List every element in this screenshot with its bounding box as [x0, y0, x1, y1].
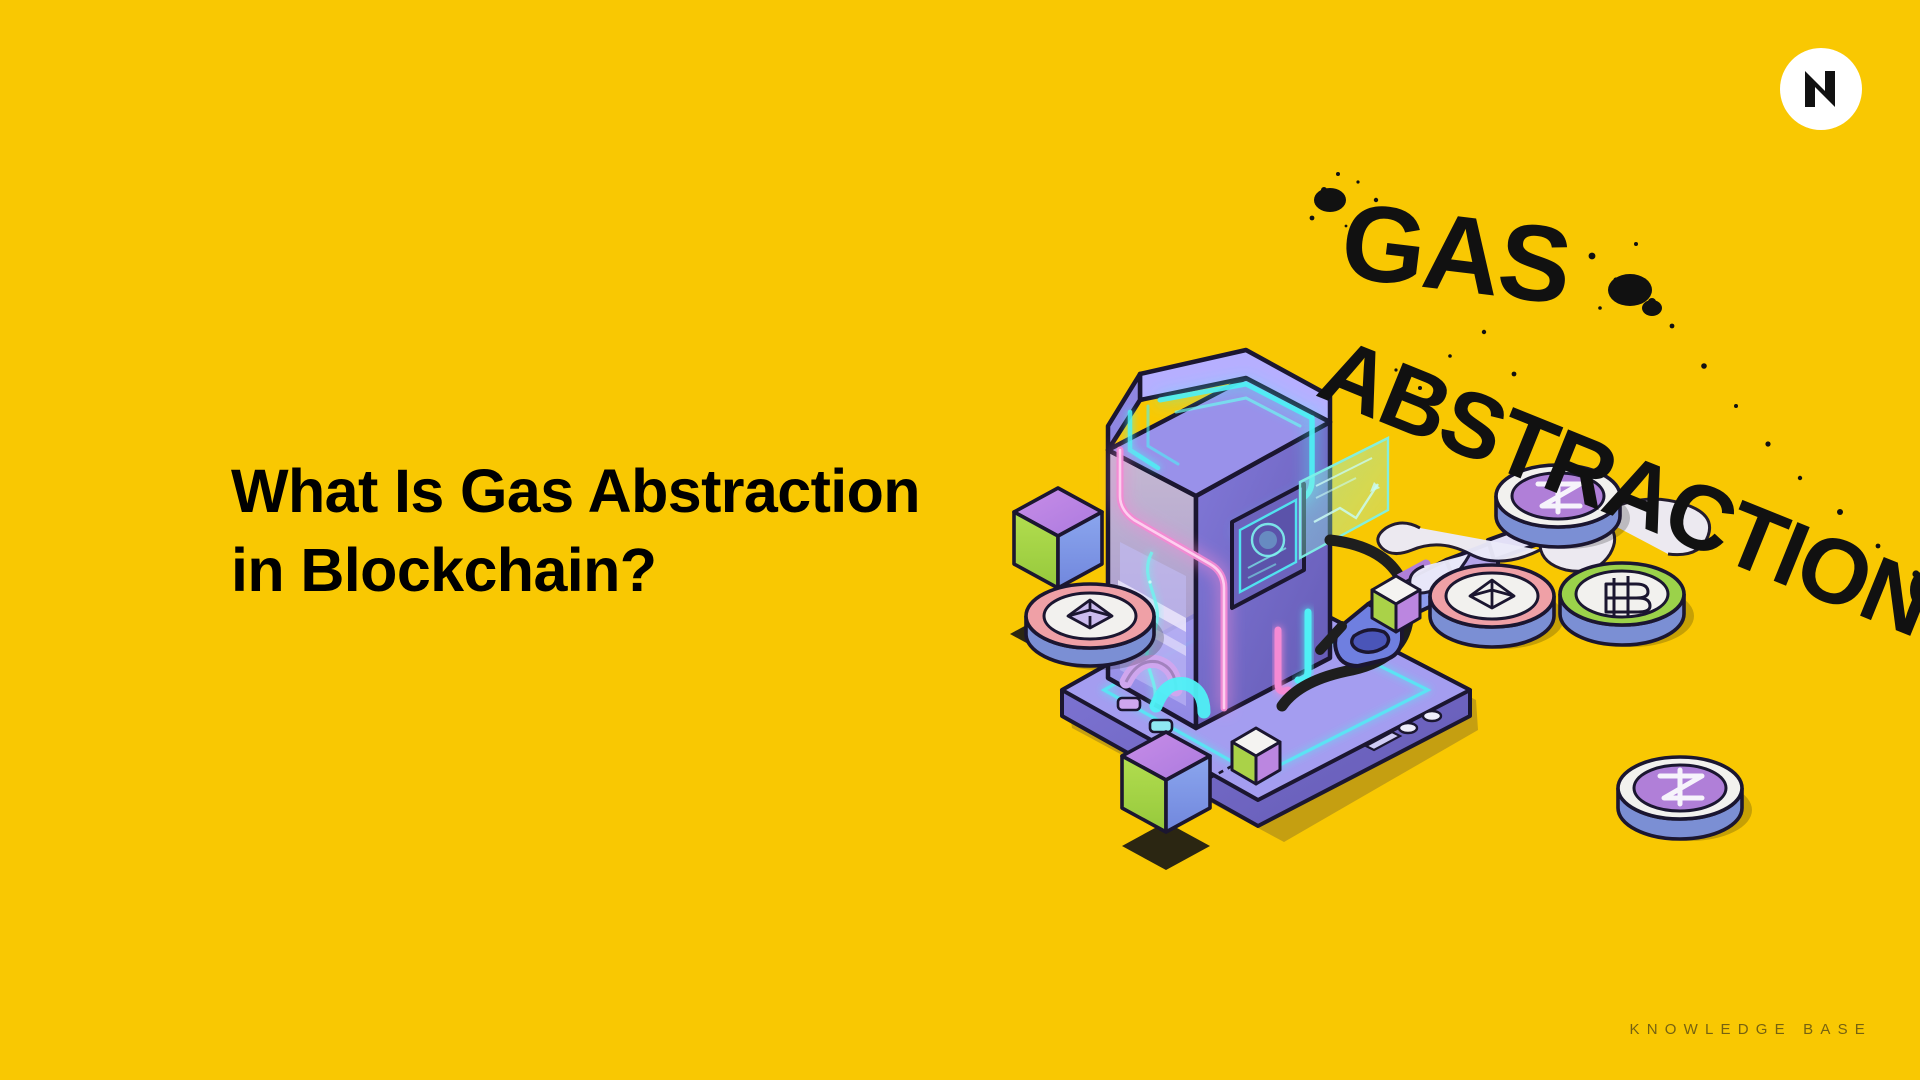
brand-logo[interactable]	[1780, 48, 1862, 130]
coin-zcash-bottom	[1618, 757, 1752, 841]
page-title-line-2: in Blockchain?	[231, 531, 1091, 610]
knowledge-base-label: KNOWLEDGE BASE	[1629, 1021, 1872, 1038]
illustration-gas-pump-crypto	[1000, 150, 1920, 950]
hero-banner: GAS ABSTRACTION What Is Gas Abstraction …	[0, 0, 1920, 1080]
coin-zcash-top	[1496, 465, 1630, 549]
cube-small-nozzle	[1372, 576, 1420, 632]
coin-ethereum-right	[1430, 565, 1564, 649]
page-title-line-1: What Is Gas Abstraction	[231, 452, 1091, 531]
nextrope-n-logo-icon	[1797, 65, 1845, 113]
coin-bitcoin	[1560, 563, 1694, 647]
cube-large-bottom	[1122, 732, 1210, 870]
page-title: What Is Gas Abstraction in Blockchain?	[231, 452, 1091, 611]
